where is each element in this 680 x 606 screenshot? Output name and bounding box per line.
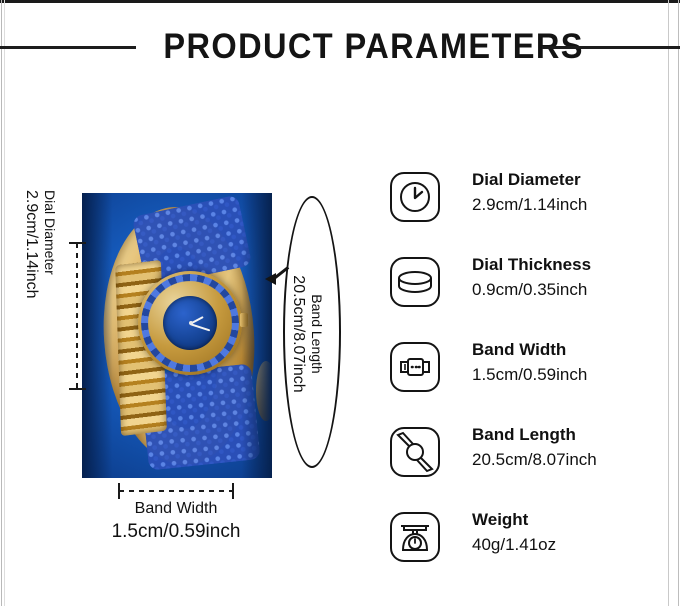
spec-text-band-width: Band Width 1.5cm/0.59inch — [472, 338, 587, 388]
spec-text-dial-thickness: Dial Thickness 0.9cm/0.35inch — [472, 253, 591, 303]
page-border-right — [678, 0, 679, 606]
product-photo — [82, 193, 272, 478]
spec-row-dial-thickness: Dial Thickness 0.9cm/0.35inch — [388, 253, 668, 338]
spec-label: Band Length — [472, 423, 597, 447]
spec-value: 40g/1.41oz — [472, 532, 556, 558]
band-length-annotation: Band Length 20.5cm/8.07inch — [285, 209, 329, 459]
spec-row-band-width: Band Width 1.5cm/0.59inch — [388, 338, 668, 423]
spec-value: 2.9cm/1.14inch — [472, 192, 587, 218]
spec-list: Dial Diameter 2.9cm/1.14inch Dial Thickn… — [388, 168, 668, 593]
spec-value: 20.5cm/8.07inch — [472, 447, 597, 473]
dial-diameter-dimension-line — [76, 243, 78, 389]
dial-diameter-annotation-value: 2.9cm/1.14inch — [22, 190, 41, 299]
title-rule-left — [0, 46, 136, 49]
spec-label: Dial Diameter — [472, 168, 587, 192]
band-width-annotation: Band Width 1.5cm/0.59inch — [60, 498, 292, 544]
watch-strap-diagonal-icon — [388, 425, 442, 479]
spec-label: Dial Thickness — [472, 253, 591, 277]
title-rule-right — [542, 46, 680, 49]
dial-diameter-cap-bottom — [69, 388, 86, 390]
page-border-top — [0, 0, 680, 3]
spec-text-dial-diameter: Dial Diameter 2.9cm/1.14inch — [472, 168, 587, 218]
band-width-cap-right — [232, 483, 234, 499]
page-border-left — [1, 0, 2, 606]
spec-text-band-length: Band Length 20.5cm/8.07inch — [472, 423, 597, 473]
spec-row-weight: Weight 40g/1.41oz — [388, 508, 668, 593]
spec-label: Band Width — [472, 338, 587, 362]
spec-row-dial-diameter: Dial Diameter 2.9cm/1.14inch — [388, 168, 668, 253]
spec-value: 0.9cm/0.35inch — [472, 277, 591, 303]
kitchen-scale-icon — [388, 510, 442, 564]
watch-band-buckle-icon — [388, 340, 442, 394]
spec-value: 1.5cm/0.59inch — [472, 362, 587, 388]
band-length-annotation-label: Band Length — [308, 294, 326, 373]
band-length-annotation-value: 20.5cm/8.07inch — [288, 275, 308, 392]
spec-text-weight: Weight 40g/1.41oz — [472, 508, 556, 558]
dial-diameter-annotation: Dial Diameter 2.9cm/1.14inch — [20, 190, 60, 336]
band-width-annotation-label: Band Width — [60, 498, 292, 519]
disc-thickness-icon — [388, 255, 442, 309]
page-title-block: PRODUCT PARAMETERS — [0, 26, 680, 72]
page-title: PRODUCT PARAMETERS — [163, 22, 518, 72]
page-border-right-inner — [668, 0, 669, 606]
band-width-dimension-line — [119, 490, 233, 492]
page-border-left-inner — [4, 0, 5, 606]
product-parameters-page: PRODUCT PARAMETERS Dial Diameter 2.9cm/1… — [0, 0, 680, 606]
photo-vignette — [82, 193, 272, 478]
dial-diameter-annotation-label: Dial Diameter — [41, 190, 58, 275]
watch-dial-icon — [388, 170, 442, 224]
spec-label: Weight — [472, 508, 556, 532]
spec-row-band-length: Band Length 20.5cm/8.07inch — [388, 423, 668, 508]
band-width-annotation-value: 1.5cm/0.59inch — [60, 519, 292, 544]
band-length-arrow-icon — [265, 273, 276, 285]
